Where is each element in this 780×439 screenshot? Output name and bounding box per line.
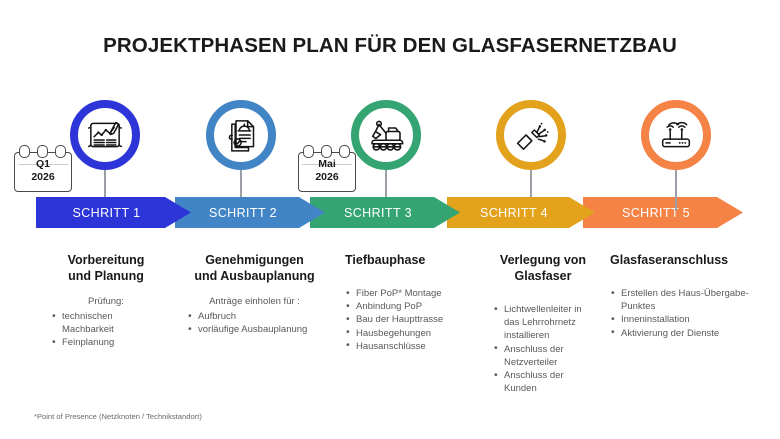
step-bullet: Feinplanung xyxy=(51,336,161,349)
calendar-year: 2026 xyxy=(298,171,356,184)
step-column-4: Verlegung vonGlasfaser Lichtwellenleiter… xyxy=(478,252,608,395)
step-arrow-5: SCHRITT 5 xyxy=(583,197,743,228)
step-bullet: Bau der Haupttrasse xyxy=(345,313,475,326)
step-bullets-5: Erstellen des Haus-Übergabe-PunktesInnen… xyxy=(610,287,760,340)
step-arrow-2: SCHRITT 2 xyxy=(175,197,325,228)
calendar-ring xyxy=(303,145,314,158)
fiber-optic-cable-icon xyxy=(511,115,551,155)
step-arrow-3: SCHRITT 3 xyxy=(310,197,460,228)
step-heading-5: Glasfaseranschluss xyxy=(610,252,760,268)
connector-stem-5 xyxy=(675,170,677,211)
calendar-mai-2026: Mai 2026 xyxy=(298,145,358,193)
step-arrow-label-2: SCHRITT 2 xyxy=(209,206,277,220)
step-arrow-label-3: SCHRITT 3 xyxy=(344,206,412,220)
step-heading-3: Tiefbauphase xyxy=(345,252,475,268)
step-bullet: Anbindung PoP xyxy=(345,300,475,313)
excavator-icon xyxy=(365,114,407,156)
footnote: *Point of Presence (Netzknoten / Technik… xyxy=(34,412,202,421)
step-heading-line: Glasfaseranschluss xyxy=(610,253,728,267)
infographic-canvas: PROJEKTPHASEN PLAN FÜR DEN GLASFASERNETZ… xyxy=(0,0,780,439)
step-arrow-label-4: SCHRITT 4 xyxy=(480,206,548,220)
step-arrow-4: SCHRITT 4 xyxy=(447,197,595,228)
page-title: PROJEKTPHASEN PLAN FÜR DEN GLASFASERNETZ… xyxy=(0,34,780,58)
step-bullet: Hausanschlüsse xyxy=(345,340,475,353)
step-heading-line: Tiefbauphase xyxy=(345,253,425,267)
step-icon-circle-2 xyxy=(206,100,276,170)
step-bullets-4: Lichtwellenleiter in das Lehrrohrnetz in… xyxy=(493,303,593,395)
step-heading-4: Verlegung vonGlasfaser xyxy=(478,252,608,284)
step-column-5: Glasfaseranschluss Erstellen des Haus-Üb… xyxy=(610,252,760,340)
step-arrow-label-5: SCHRITT 5 xyxy=(622,206,690,220)
step-bullet: vorläufige Ausbauplanung xyxy=(187,323,322,336)
calendar-ring xyxy=(19,145,30,158)
step-icon-circle-3 xyxy=(351,100,421,170)
step-column-3: Tiefbauphase Fiber PoP* MontageAnbindung… xyxy=(345,252,475,353)
step-bullet: Hausbegehungen xyxy=(345,327,475,340)
step-intro-2: Anträge einholen für : xyxy=(172,295,337,308)
step-arrow-label-1: SCHRITT 1 xyxy=(73,206,141,220)
calendar-text: Mai 2026 xyxy=(298,158,356,183)
calendar-ring xyxy=(55,145,66,158)
step-bullet: technischen Machbarkeit xyxy=(51,310,161,336)
step-bullet: Aufbruch xyxy=(187,310,322,323)
wifi-router-icon xyxy=(656,115,696,155)
calendar-period: Mai xyxy=(298,158,356,171)
step-bullets-2: Aufbruchvorläufige Ausbauplanung xyxy=(187,310,322,336)
step-bullet: Inneninstallation xyxy=(610,313,760,326)
step-heading-line: Genehmigungen xyxy=(205,253,304,267)
calendar-q1-2026: Q1 2026 xyxy=(14,145,74,193)
calendar-ring xyxy=(339,145,350,158)
step-intro-1: Prüfung: xyxy=(36,295,176,308)
step-heading-2: Genehmigungenund Ausbauplanung xyxy=(172,252,337,284)
calendar-ring xyxy=(321,145,332,158)
calendar-text: Q1 2026 xyxy=(14,158,72,183)
step-icon-circle-1 xyxy=(70,100,140,170)
step-heading-line: Glasfaser xyxy=(515,269,572,283)
step-icon-circle-4 xyxy=(496,100,566,170)
step-bullet: Lichtwellenleiter in das Lehrrohrnetz in… xyxy=(493,303,593,343)
step-icon-circle-5 xyxy=(641,100,711,170)
calendar-year: 2026 xyxy=(14,171,72,184)
calendar-period: Q1 xyxy=(14,158,72,171)
step-arrow-1: SCHRITT 1 xyxy=(36,197,191,228)
step-column-2: Genehmigungenund Ausbauplanung Anträge e… xyxy=(172,252,337,336)
step-bullet: Aktivierung der Dienste xyxy=(610,327,760,340)
step-heading-line: Verlegung von xyxy=(500,253,586,267)
step-bullets-1: technischen MachbarkeitFeinplanung xyxy=(51,310,161,350)
step-bullet: Fiber PoP* Montage xyxy=(345,287,475,300)
blueprint-plan-icon xyxy=(85,115,125,155)
step-heading-1: Vorbereitungund Planung xyxy=(36,252,176,284)
step-heading-line: Vorbereitung xyxy=(68,253,145,267)
step-heading-line: und Planung xyxy=(68,269,144,283)
step-bullet: Anschluss der Kunden xyxy=(493,369,593,395)
step-heading-line: und Ausbauplanung xyxy=(194,269,314,283)
calendar-ring xyxy=(37,145,48,158)
step-bullet: Anschluss der Netzverteiler xyxy=(493,343,593,369)
permit-documents-icon xyxy=(221,115,261,155)
step-bullet: Erstellen des Haus-Übergabe-Punktes xyxy=(610,287,760,313)
step-bullets-3: Fiber PoP* MontageAnbindung PoPBau der H… xyxy=(345,287,475,353)
step-column-1: Vorbereitungund Planung Prüfung: technis… xyxy=(36,252,176,350)
